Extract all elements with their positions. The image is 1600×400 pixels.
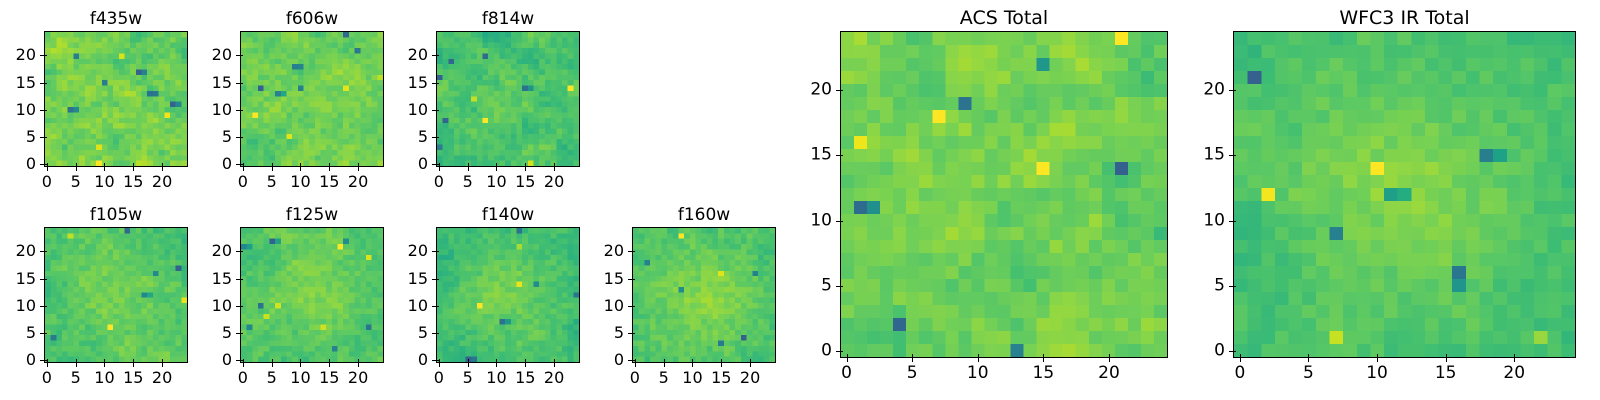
y-tick-inner-acs-total-0 (840, 351, 843, 352)
y-ticklabel-wfc3-ir-total-10: 10 (1173, 212, 1225, 229)
y-tick-inner-f814w-20 (436, 55, 439, 56)
x-ticklabel-f814w-0: 0 (434, 174, 444, 190)
panel-title-f435w: f435w (44, 11, 188, 28)
y-ticklabel-wfc3-ir-total-5: 5 (1173, 278, 1225, 295)
x-tick-f606w-15 (329, 167, 330, 171)
x-tick-acs-total-0 (847, 358, 848, 362)
x-ticklabel-f140w-15: 15 (515, 370, 535, 386)
y-ticklabel-f160w-5: 5 (588, 325, 624, 341)
y-ticklabel-acs-total-10: 10 (780, 212, 832, 229)
x-tick-f105w-5 (76, 363, 77, 367)
y-ticklabel-f435w-0: 0 (0, 156, 36, 172)
heatmap-f125w (240, 227, 384, 363)
heatmap-wfc3-ir-total (1233, 31, 1576, 358)
y-ticklabel-f160w-15: 15 (588, 271, 624, 287)
x-tick-f125w-0 (243, 363, 244, 367)
y-ticklabel-f105w-0: 0 (0, 352, 36, 368)
x-tick-f606w-5 (272, 167, 273, 171)
x-ticklabel-f125w-10: 10 (290, 370, 310, 386)
x-ticklabel-f606w-15: 15 (319, 174, 339, 190)
y-tick-inner-f105w-20 (44, 251, 47, 252)
x-ticklabel-f125w-20: 20 (348, 370, 368, 386)
x-ticklabel-f125w-5: 5 (267, 370, 277, 386)
panel-acs-total: ACS Total0510152005101520 (780, 7, 1178, 388)
x-tick-f435w-20 (162, 167, 163, 171)
x-tick-acs-total-20 (1109, 358, 1110, 362)
y-ticklabel-f160w-0: 0 (588, 352, 624, 368)
panel-title-f140w: f140w (436, 207, 580, 224)
heatmap-f435w (44, 31, 188, 167)
x-tick-inner-f105w-0 (47, 359, 48, 362)
x-tick-f814w-20 (554, 167, 555, 171)
x-tick-f105w-20 (162, 363, 163, 367)
panel-f105w: f105w0510152005101520 (0, 205, 198, 393)
y-ticklabel-f814w-10: 10 (392, 102, 428, 118)
y-tick-inner-f606w-0 (240, 164, 243, 165)
y-tick-inner-f435w-5 (44, 137, 47, 138)
x-tick-inner-f125w-10 (300, 359, 301, 362)
x-tick-inner-f125w-20 (358, 359, 359, 362)
y-ticklabel-f606w-10: 10 (196, 102, 232, 118)
x-tick-inner-f160w-0 (635, 359, 636, 362)
y-tick-inner-f125w-5 (240, 333, 243, 334)
x-tick-inner-acs-total-20 (1109, 354, 1110, 357)
x-tick-f606w-10 (300, 167, 301, 171)
y-ticklabel-f160w-10: 10 (588, 298, 624, 314)
x-ticklabel-f814w-15: 15 (515, 174, 535, 190)
x-tick-inner-f105w-5 (76, 359, 77, 362)
y-ticklabel-f814w-5: 5 (392, 129, 428, 145)
y-tick-inner-f606w-10 (240, 110, 243, 111)
y-tick-inner-f606w-20 (240, 55, 243, 56)
y-tick-inner-f140w-0 (436, 360, 439, 361)
y-ticklabel-f606w-5: 5 (196, 129, 232, 145)
x-tick-f105w-15 (133, 363, 134, 367)
x-tick-f160w-5 (664, 363, 665, 367)
x-tick-inner-f435w-0 (47, 163, 48, 166)
x-tick-inner-wfc3-ir-total-20 (1514, 354, 1515, 357)
x-ticklabel-acs-total-20: 20 (1098, 365, 1120, 382)
x-ticklabel-f105w-15: 15 (123, 370, 143, 386)
x-ticklabel-acs-total-15: 15 (1033, 365, 1055, 382)
x-tick-f105w-10 (104, 363, 105, 367)
x-tick-inner-f435w-5 (76, 163, 77, 166)
y-tick-inner-f606w-15 (240, 83, 243, 84)
y-tick-inner-acs-total-10 (840, 221, 843, 222)
x-tick-wfc3-ir-total-5 (1308, 358, 1309, 362)
x-tick-f435w-10 (104, 167, 105, 171)
x-ticklabel-acs-total-0: 0 (841, 365, 852, 382)
y-ticklabel-f435w-5: 5 (0, 129, 36, 145)
x-tick-acs-total-15 (1043, 358, 1044, 362)
y-ticklabel-wfc3-ir-total-15: 15 (1173, 147, 1225, 164)
x-tick-inner-f105w-10 (104, 359, 105, 362)
y-tick-inner-f140w-15 (436, 279, 439, 280)
x-tick-inner-f160w-5 (664, 359, 665, 362)
x-tick-wfc3-ir-total-10 (1377, 358, 1378, 362)
y-tick-inner-acs-total-5 (840, 286, 843, 287)
heatmap-acs-total (840, 31, 1168, 358)
x-tick-inner-f435w-15 (133, 163, 134, 166)
y-ticklabel-f160w-20: 20 (588, 243, 624, 259)
x-tick-inner-acs-total-5 (912, 354, 913, 357)
heatmap-canvas-f814w (437, 32, 579, 166)
y-ticklabel-f105w-15: 15 (0, 271, 36, 287)
x-tick-inner-f105w-20 (162, 359, 163, 362)
panel-f606w: f606w0510152005101520 (196, 9, 394, 197)
y-ticklabel-f105w-5: 5 (0, 325, 36, 341)
x-tick-f160w-15 (721, 363, 722, 367)
x-tick-f125w-20 (358, 363, 359, 367)
x-tick-f606w-20 (358, 167, 359, 171)
x-tick-f125w-10 (300, 363, 301, 367)
x-tick-inner-wfc3-ir-total-15 (1446, 354, 1447, 357)
x-tick-inner-f606w-15 (329, 163, 330, 166)
panel-f160w: f160w0510152005101520 (588, 205, 786, 393)
panel-title-f125w: f125w (240, 207, 384, 224)
x-ticklabel-f160w-0: 0 (630, 370, 640, 386)
x-tick-f140w-5 (468, 363, 469, 367)
x-ticklabel-f140w-20: 20 (544, 370, 564, 386)
x-ticklabel-f140w-10: 10 (486, 370, 506, 386)
x-ticklabel-f105w-20: 20 (152, 370, 172, 386)
heatmap-f140w (436, 227, 580, 363)
x-ticklabel-f435w-0: 0 (42, 174, 52, 190)
x-tick-inner-f814w-15 (525, 163, 526, 166)
x-ticklabel-f435w-15: 15 (123, 174, 143, 190)
y-tick-inner-f814w-5 (436, 137, 439, 138)
y-ticklabel-f140w-10: 10 (392, 298, 428, 314)
x-tick-inner-f814w-20 (554, 163, 555, 166)
x-ticklabel-f606w-0: 0 (238, 174, 248, 190)
y-tick-inner-f160w-0 (632, 360, 635, 361)
y-ticklabel-f125w-0: 0 (196, 352, 232, 368)
y-tick-inner-f435w-10 (44, 110, 47, 111)
y-ticklabel-acs-total-20: 20 (780, 81, 832, 98)
heatmap-f105w (44, 227, 188, 363)
x-tick-acs-total-5 (912, 358, 913, 362)
x-tick-inner-f435w-10 (104, 163, 105, 166)
y-ticklabel-f814w-15: 15 (392, 75, 428, 91)
y-tick-inner-f140w-20 (436, 251, 439, 252)
heatmap-canvas-f140w (437, 228, 579, 362)
y-tick-inner-f435w-20 (44, 55, 47, 56)
x-tick-inner-f125w-15 (329, 359, 330, 362)
y-ticklabel-f814w-0: 0 (392, 156, 428, 172)
y-tick-inner-f105w-0 (44, 360, 47, 361)
x-ticklabel-f105w-0: 0 (42, 370, 52, 386)
x-tick-inner-f606w-0 (243, 163, 244, 166)
heatmap-canvas-f105w (45, 228, 187, 362)
y-tick-inner-wfc3-ir-total-15 (1233, 155, 1236, 156)
x-ticklabel-f140w-5: 5 (463, 370, 473, 386)
x-ticklabel-f125w-15: 15 (319, 370, 339, 386)
x-tick-inner-f140w-5 (468, 359, 469, 362)
x-tick-f435w-15 (133, 167, 134, 171)
panel-f140w: f140w0510152005101520 (392, 205, 590, 393)
x-tick-inner-f140w-0 (439, 359, 440, 362)
y-tick-inner-f606w-5 (240, 137, 243, 138)
y-ticklabel-acs-total-0: 0 (780, 343, 832, 360)
x-tick-wfc3-ir-total-15 (1446, 358, 1447, 362)
x-ticklabel-f814w-20: 20 (544, 174, 564, 190)
y-tick-inner-f160w-10 (632, 306, 635, 307)
panel-f814w: f814w0510152005101520 (392, 9, 590, 197)
heatmap-canvas-wfc3-ir-total (1234, 32, 1575, 357)
x-tick-wfc3-ir-total-20 (1514, 358, 1515, 362)
x-ticklabel-f160w-20: 20 (740, 370, 760, 386)
x-tick-inner-f814w-0 (439, 163, 440, 166)
x-ticklabel-wfc3-ir-total-15: 15 (1435, 365, 1457, 382)
x-tick-f814w-15 (525, 167, 526, 171)
x-ticklabel-f140w-0: 0 (434, 370, 444, 386)
heatmap-canvas-f606w (241, 32, 383, 166)
y-ticklabel-f125w-20: 20 (196, 243, 232, 259)
x-tick-inner-f814w-10 (496, 163, 497, 166)
x-ticklabel-f814w-10: 10 (486, 174, 506, 190)
y-tick-inner-f160w-15 (632, 279, 635, 280)
y-ticklabel-f125w-10: 10 (196, 298, 232, 314)
x-tick-inner-f435w-20 (162, 163, 163, 166)
x-tick-inner-acs-total-10 (978, 354, 979, 357)
x-tick-f160w-10 (692, 363, 693, 367)
y-ticklabel-f105w-20: 20 (0, 243, 36, 259)
x-ticklabel-f160w-10: 10 (682, 370, 702, 386)
y-tick-inner-acs-total-20 (840, 90, 843, 91)
panel-title-f606w: f606w (240, 11, 384, 28)
y-tick-inner-f105w-5 (44, 333, 47, 334)
x-ticklabel-wfc3-ir-total-5: 5 (1303, 365, 1314, 382)
y-ticklabel-f435w-10: 10 (0, 102, 36, 118)
figure-canvas: f435w0510152005101520f606w05101520051015… (0, 0, 1600, 400)
y-tick-inner-wfc3-ir-total-0 (1233, 351, 1236, 352)
x-ticklabel-wfc3-ir-total-10: 10 (1366, 365, 1388, 382)
x-ticklabel-acs-total-10: 10 (967, 365, 989, 382)
x-tick-f160w-20 (750, 363, 751, 367)
x-ticklabel-f125w-0: 0 (238, 370, 248, 386)
panel-title-acs-total: ACS Total (840, 9, 1168, 28)
y-ticklabel-f606w-0: 0 (196, 156, 232, 172)
x-tick-inner-f140w-15 (525, 359, 526, 362)
y-ticklabel-acs-total-5: 5 (780, 278, 832, 295)
x-tick-f606w-0 (243, 167, 244, 171)
y-tick-inner-f814w-10 (436, 110, 439, 111)
y-tick-inner-f435w-15 (44, 83, 47, 84)
x-tick-inner-f606w-5 (272, 163, 273, 166)
y-tick-inner-wfc3-ir-total-20 (1233, 90, 1236, 91)
y-ticklabel-f125w-5: 5 (196, 325, 232, 341)
y-ticklabel-f435w-15: 15 (0, 75, 36, 91)
x-tick-inner-f125w-0 (243, 359, 244, 362)
x-tick-f140w-20 (554, 363, 555, 367)
heatmap-canvas-acs-total (841, 32, 1167, 357)
x-ticklabel-f160w-15: 15 (711, 370, 731, 386)
y-tick-inner-f814w-15 (436, 83, 439, 84)
panel-wfc3-ir-total: WFC3 IR Total0510152005101520 (1173, 7, 1586, 388)
y-ticklabel-f125w-15: 15 (196, 271, 232, 287)
y-tick-inner-wfc3-ir-total-10 (1233, 221, 1236, 222)
x-ticklabel-f435w-5: 5 (71, 174, 81, 190)
x-tick-inner-wfc3-ir-total-5 (1308, 354, 1309, 357)
x-tick-f140w-0 (439, 363, 440, 367)
y-ticklabel-f606w-20: 20 (196, 47, 232, 63)
y-tick-inner-f140w-10 (436, 306, 439, 307)
x-ticklabel-f105w-10: 10 (94, 370, 114, 386)
x-ticklabel-f435w-10: 10 (94, 174, 114, 190)
y-ticklabel-f606w-15: 15 (196, 75, 232, 91)
x-tick-inner-wfc3-ir-total-0 (1240, 354, 1241, 357)
x-tick-inner-f606w-10 (300, 163, 301, 166)
x-tick-f814w-5 (468, 167, 469, 171)
panel-f435w: f435w0510152005101520 (0, 9, 198, 197)
y-tick-inner-acs-total-15 (840, 155, 843, 156)
y-ticklabel-f140w-5: 5 (392, 325, 428, 341)
x-ticklabel-f105w-5: 5 (71, 370, 81, 386)
y-tick-inner-f125w-20 (240, 251, 243, 252)
x-tick-inner-f160w-20 (750, 359, 751, 362)
x-ticklabel-wfc3-ir-total-20: 20 (1503, 365, 1525, 382)
x-tick-f105w-0 (47, 363, 48, 367)
panel-title-f814w: f814w (436, 11, 580, 28)
x-tick-f140w-15 (525, 363, 526, 367)
x-tick-acs-total-10 (978, 358, 979, 362)
heatmap-f814w (436, 31, 580, 167)
x-tick-inner-f105w-15 (133, 359, 134, 362)
x-ticklabel-f606w-10: 10 (290, 174, 310, 190)
y-ticklabel-acs-total-15: 15 (780, 147, 832, 164)
x-ticklabel-f160w-5: 5 (659, 370, 669, 386)
heatmap-f160w (632, 227, 776, 363)
y-ticklabel-f435w-20: 20 (0, 47, 36, 63)
x-ticklabel-f435w-20: 20 (152, 174, 172, 190)
heatmap-canvas-f160w (633, 228, 775, 362)
x-tick-inner-wfc3-ir-total-10 (1377, 354, 1378, 357)
heatmap-canvas-f435w (45, 32, 187, 166)
x-tick-inner-f606w-20 (358, 163, 359, 166)
y-ticklabel-wfc3-ir-total-20: 20 (1173, 81, 1225, 98)
x-tick-f435w-0 (47, 167, 48, 171)
y-tick-inner-f125w-15 (240, 279, 243, 280)
heatmap-canvas-f125w (241, 228, 383, 362)
x-ticklabel-f606w-20: 20 (348, 174, 368, 190)
x-tick-inner-f140w-20 (554, 359, 555, 362)
x-tick-f160w-0 (635, 363, 636, 367)
y-tick-inner-wfc3-ir-total-5 (1233, 286, 1236, 287)
x-tick-f814w-0 (439, 167, 440, 171)
panel-title-f160w: f160w (632, 207, 776, 224)
x-tick-f814w-10 (496, 167, 497, 171)
x-ticklabel-wfc3-ir-total-0: 0 (1234, 365, 1245, 382)
x-ticklabel-f606w-5: 5 (267, 174, 277, 190)
x-tick-inner-f160w-10 (692, 359, 693, 362)
panel-title-wfc3-ir-total: WFC3 IR Total (1233, 9, 1576, 28)
x-tick-f125w-5 (272, 363, 273, 367)
y-ticklabel-f105w-10: 10 (0, 298, 36, 314)
y-ticklabel-wfc3-ir-total-0: 0 (1173, 343, 1225, 360)
y-ticklabel-f814w-20: 20 (392, 47, 428, 63)
x-tick-inner-f125w-5 (272, 359, 273, 362)
y-tick-inner-f814w-0 (436, 164, 439, 165)
x-tick-f140w-10 (496, 363, 497, 367)
x-tick-inner-f160w-15 (721, 359, 722, 362)
y-ticklabel-f140w-15: 15 (392, 271, 428, 287)
y-tick-inner-f160w-5 (632, 333, 635, 334)
x-ticklabel-acs-total-5: 5 (907, 365, 918, 382)
panel-f125w: f125w0510152005101520 (196, 205, 394, 393)
y-tick-inner-f435w-0 (44, 164, 47, 165)
x-tick-inner-f140w-10 (496, 359, 497, 362)
y-tick-inner-f160w-20 (632, 251, 635, 252)
x-tick-inner-f814w-5 (468, 163, 469, 166)
heatmap-f606w (240, 31, 384, 167)
x-tick-inner-acs-total-0 (847, 354, 848, 357)
panel-title-f105w: f105w (44, 207, 188, 224)
y-tick-inner-f125w-10 (240, 306, 243, 307)
y-tick-inner-f125w-0 (240, 360, 243, 361)
y-tick-inner-f105w-10 (44, 306, 47, 307)
x-ticklabel-f814w-5: 5 (463, 174, 473, 190)
y-ticklabel-f140w-20: 20 (392, 243, 428, 259)
x-tick-f125w-15 (329, 363, 330, 367)
x-tick-inner-acs-total-15 (1043, 354, 1044, 357)
y-tick-inner-f105w-15 (44, 279, 47, 280)
x-tick-wfc3-ir-total-0 (1240, 358, 1241, 362)
y-ticklabel-f140w-0: 0 (392, 352, 428, 368)
x-tick-f435w-5 (76, 167, 77, 171)
y-tick-inner-f140w-5 (436, 333, 439, 334)
